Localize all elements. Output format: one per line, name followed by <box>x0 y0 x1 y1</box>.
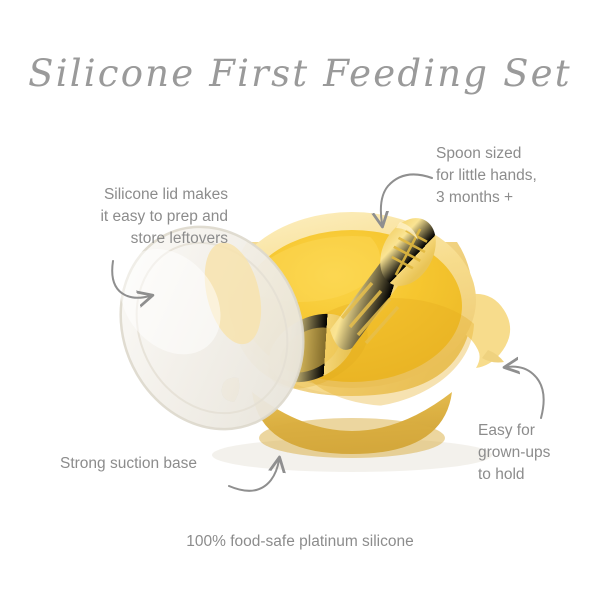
footer-note: 100% food-safe platinum silicone <box>0 533 600 551</box>
product-image <box>0 0 600 600</box>
callout-lid: Silicone lid makes it easy to prep and s… <box>36 184 228 250</box>
callout-suction: Strong suction base <box>60 453 280 475</box>
callout-spoon: Spoon sized for little hands, 3 months + <box>436 143 596 209</box>
callout-grip: Easy for grown-ups to hold <box>478 420 598 486</box>
infographic-canvas: Silicone First Feeding Set <box>0 0 600 600</box>
